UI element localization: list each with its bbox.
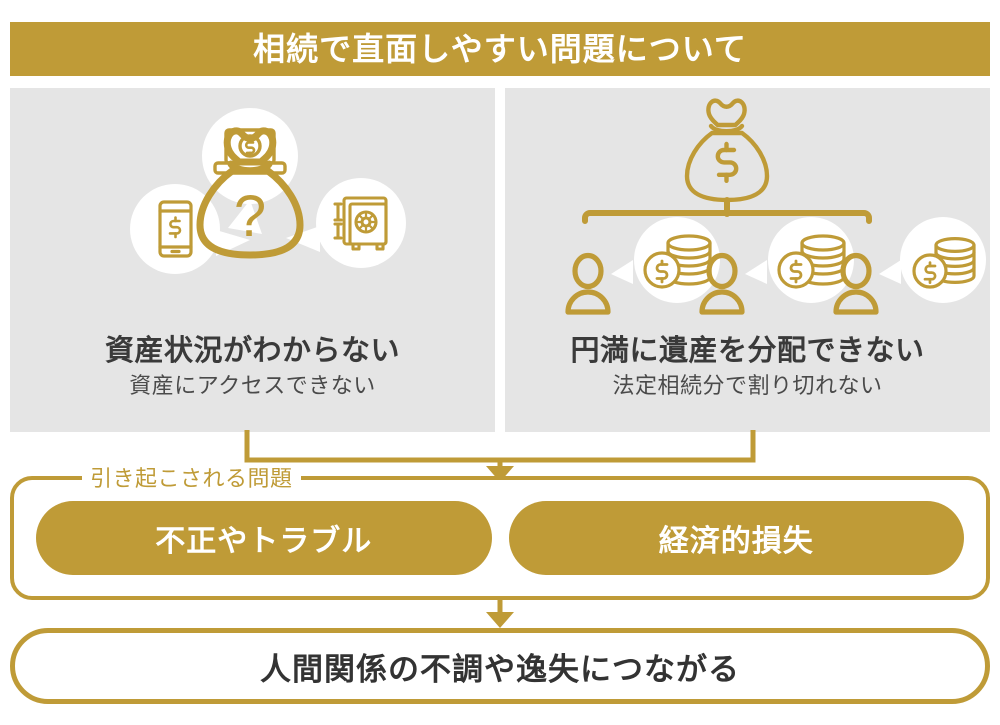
panel-asset-status: ? 資産状況がわからない 資産にアクセスできない	[10, 88, 495, 432]
person-icon	[568, 256, 608, 313]
panel-estate-distribution-subtext: 法定相続分で割り切れない	[505, 371, 990, 401]
panel-estate-distribution-illustration	[505, 88, 990, 338]
conclusion-box: 人間関係の不調や逸失につながる	[10, 628, 990, 704]
heir-group-1	[568, 217, 720, 312]
panel-estate-distribution-caption: 円満に遺産を分配できない 法定相続分で割り切れない	[505, 334, 990, 400]
heir-group-3	[836, 217, 986, 312]
problems-box: 引き起こされる問題 不正やトラブル 経済的損失	[10, 476, 990, 600]
problems-to-conclusion-arrow	[0, 598, 1000, 628]
panel-asset-status-subtext: 資産にアクセスできない	[10, 371, 495, 401]
distribution-bracket	[585, 200, 869, 221]
arrowhead	[486, 612, 514, 628]
panel-asset-status-caption: 資産状況がわからない 資産にアクセスできない	[10, 334, 495, 400]
conclusion-text: 人間関係の不調や逸失につながる	[260, 644, 740, 689]
infographic-root: 相続で直面しやすい問題について	[0, 0, 1000, 725]
heir-group-2	[702, 217, 854, 312]
problem-pill-fraud[interactable]: 不正やトラブル	[36, 501, 492, 575]
money-bag-dollar-icon	[687, 101, 767, 200]
problem-pill-economic-loss[interactable]: 経済的損失	[509, 501, 965, 575]
panel-asset-status-heading: 資産状況がわからない	[10, 334, 495, 369]
problems-pill-list: 不正やトラブル 経済的損失	[14, 480, 986, 596]
panel-estate-distribution: 円満に遺産を分配できない 法定相続分で割り切れない	[505, 88, 990, 432]
header-bar: 相続で直面しやすい問題について	[10, 22, 990, 76]
panel-estate-distribution-heading: 円満に遺産を分配できない	[505, 334, 990, 369]
page-title: 相続で直面しやすい問題について	[253, 33, 747, 65]
safe-bubble	[286, 178, 406, 268]
panel-asset-status-illustration: ?	[10, 88, 495, 338]
money-bag-question-label: ?	[234, 184, 266, 249]
